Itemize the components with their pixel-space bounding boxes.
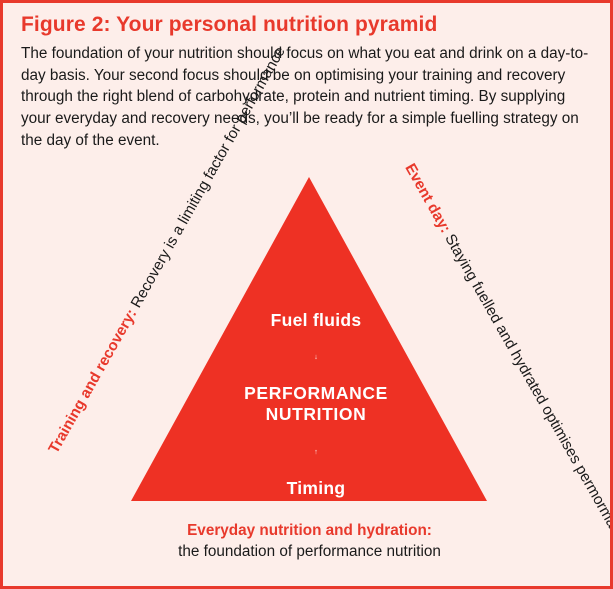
figure-intro-text: The foundation of your nutrition should … (21, 43, 599, 152)
pyramid-inner-labels: Fuel fluids PERFORMANCE NUTRITION Timing (206, 310, 426, 499)
arrow-down-icon (315, 337, 317, 377)
bottom-label: Everyday nutrition and hydration: the fo… (3, 522, 613, 561)
performance-nutrition-line1: PERFORMANCE (206, 383, 426, 404)
timing-label: Timing (206, 478, 426, 499)
figure-card: Figure 2: Your personal nutrition pyrami… (0, 0, 613, 589)
bottom-body: the foundation of performance nutrition (3, 543, 613, 561)
pyramid-diagram: Fuel fluids PERFORMANCE NUTRITION Timing… (3, 171, 613, 516)
page-title: Figure 2: Your personal nutrition pyrami… (21, 13, 596, 37)
arrow-up-icon (315, 432, 317, 472)
fuel-fluids-label: Fuel fluids (206, 310, 426, 331)
performance-nutrition-line2: NUTRITION (206, 404, 426, 425)
bottom-heading: Everyday nutrition and hydration: (3, 522, 613, 540)
